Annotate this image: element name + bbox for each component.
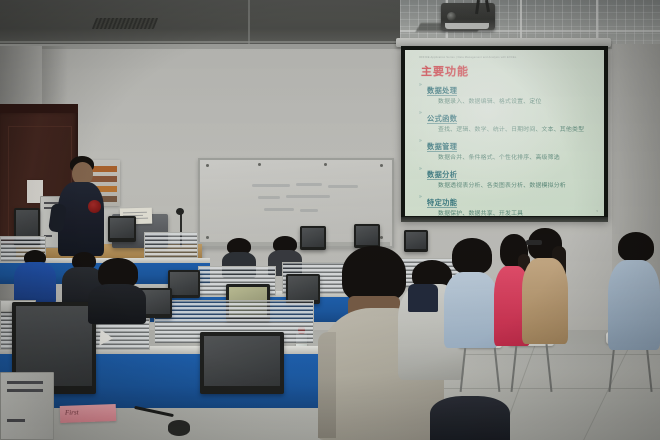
slide-section-heading: 公式函数 bbox=[427, 114, 457, 124]
bullet-icon: » bbox=[419, 192, 422, 202]
slide-section: » 数据分析 数据透视表分析、各类图表分析、数据模拟分析 bbox=[427, 164, 598, 191]
desk-label-tag: First bbox=[60, 404, 117, 423]
lab-monitor bbox=[168, 270, 200, 298]
slide-section: » 特定功能 数据保护、数据共享、开发工具 bbox=[427, 192, 598, 216]
bullet-icon: » bbox=[419, 108, 422, 118]
slide-section-heading: 特定功能 bbox=[427, 198, 457, 208]
slide-page-number: 5 bbox=[596, 209, 598, 213]
slide-title: 主要功能 bbox=[421, 63, 469, 79]
attendee-hair bbox=[342, 246, 406, 302]
projector-lens-icon bbox=[447, 12, 456, 21]
slide-section: » 公式函数 查找、逻辑、数学、统计、日期时间、文本、其他类型 bbox=[427, 108, 598, 135]
presenter-logo bbox=[88, 200, 101, 213]
slide-section-detail: 数据合并、条件格式、个性化排序、高级筛选 bbox=[438, 154, 598, 163]
attendee-front-left-head bbox=[88, 258, 146, 320]
classroom-photo: OFFICE Application Series | Data Managem… bbox=[0, 0, 660, 440]
ceiling-vent-icon bbox=[92, 18, 158, 29]
presenter bbox=[58, 156, 104, 256]
bullet-icon: » bbox=[419, 136, 422, 146]
attendee-blue-jacket bbox=[14, 250, 56, 300]
slide-section-heading: 数据处理 bbox=[427, 86, 457, 96]
microphone-icon bbox=[176, 208, 184, 215]
door-header bbox=[0, 104, 78, 113]
mouse-icon bbox=[168, 420, 190, 436]
attendee-lightblue-2 bbox=[608, 232, 660, 350]
lab-monitor bbox=[108, 216, 136, 242]
slide-section-heading: 数据分析 bbox=[427, 170, 457, 180]
slide-section-detail: 查找、逻辑、数学、统计、日期时间、文本、其他类型 bbox=[438, 126, 598, 135]
bullet-icon: » bbox=[419, 164, 422, 174]
slide-section-list: » 数据处理 数据录入、数据编辑、格式设置、定位 » 公式函数 查找、逻辑、数学… bbox=[427, 80, 598, 216]
projection-screen-bottom-bar bbox=[401, 217, 608, 222]
slide-section-detail: 数据保护、数据共享、开发工具 bbox=[438, 210, 598, 216]
lab-monitor bbox=[354, 224, 380, 248]
slide-section-detail: 数据透视表分析、各类图表分析、数据模拟分析 bbox=[438, 182, 598, 191]
attendee-foreground-right bbox=[430, 396, 510, 440]
attendee-tan-coat bbox=[522, 228, 574, 344]
slide-section-heading: 数据管理 bbox=[427, 142, 457, 152]
attendee-lightblue-1 bbox=[444, 238, 498, 348]
slide-header-line: OFFICE Application Series | Data Managem… bbox=[419, 56, 596, 59]
foreground-monitor-right bbox=[200, 332, 284, 394]
bullet-icon: » bbox=[419, 80, 422, 90]
desk-partition bbox=[144, 232, 198, 258]
projected-slide: OFFICE Application Series | Data Managem… bbox=[405, 50, 604, 216]
computer-tower bbox=[0, 372, 54, 440]
glasses-icon bbox=[526, 240, 542, 245]
ceiling-seam-vertical bbox=[248, 0, 250, 45]
desk-label-text: First bbox=[65, 408, 79, 416]
slide-section: » 数据处理 数据录入、数据编辑、格式设置、定位 bbox=[427, 80, 598, 107]
attendee-arm bbox=[318, 332, 336, 438]
slide-section-detail: 数据录入、数据编辑、格式设置、定位 bbox=[438, 98, 598, 107]
slide-section: » 数据管理 数据合并、条件格式、个性化排序、高级筛选 bbox=[427, 136, 598, 163]
paper-cone bbox=[99, 330, 113, 347]
